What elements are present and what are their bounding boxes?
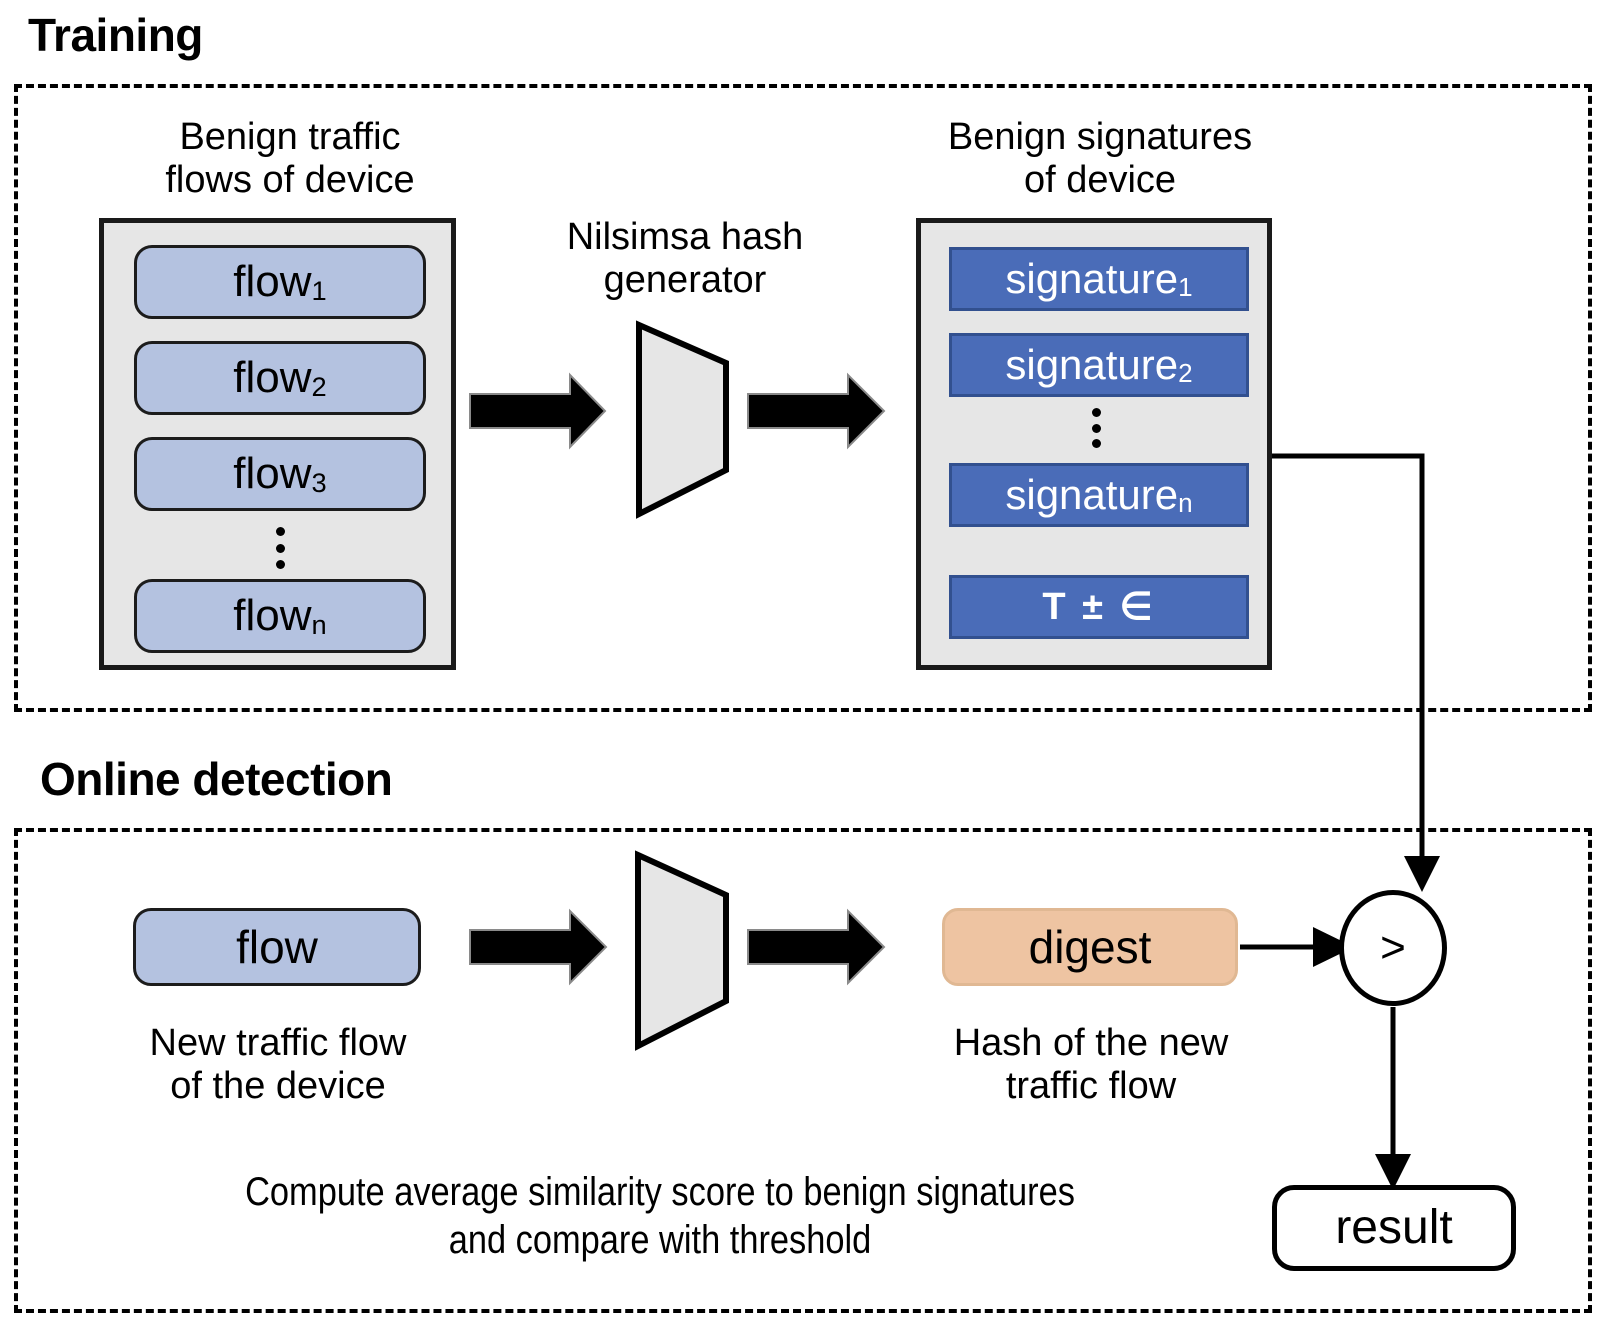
flow-label-subscript: 1 bbox=[312, 277, 327, 304]
flow-box-3[interactable]: flow3 bbox=[134, 437, 426, 511]
benign-signatures-container: signature1 signature2 signaturen T ± ∈ bbox=[916, 218, 1272, 670]
signature-label-base: signature bbox=[1005, 258, 1178, 300]
flow-label-subscript: 2 bbox=[312, 373, 327, 400]
signature-box-n[interactable]: signaturen bbox=[949, 463, 1249, 527]
flow-label-base: flow bbox=[233, 356, 311, 400]
signature-label-subscript: 2 bbox=[1178, 360, 1192, 386]
flow-label-subscript: n bbox=[312, 611, 327, 638]
signature-label-subscript: n bbox=[1178, 490, 1192, 516]
nilsimsa-hash-generator-label: Nilsimsa hash generator bbox=[525, 216, 845, 301]
flow-box-1[interactable]: flow1 bbox=[134, 245, 426, 319]
new-flow-box[interactable]: flow bbox=[133, 908, 421, 986]
benign-flows-container: flow1 flow2 flow3 flown bbox=[99, 218, 456, 670]
flow-box-n[interactable]: flown bbox=[134, 579, 426, 653]
new-flow-caption: New traffic flow of the device bbox=[118, 1022, 438, 1107]
flow-label-base: flow bbox=[233, 452, 311, 496]
flow-label-subscript: 3 bbox=[312, 469, 327, 496]
threshold-box[interactable]: T ± ∈ bbox=[949, 575, 1249, 639]
signature-box-1[interactable]: signature1 bbox=[949, 247, 1249, 311]
digest-box[interactable]: digest bbox=[942, 908, 1238, 986]
signature-box-2[interactable]: signature2 bbox=[949, 333, 1249, 397]
flow-label-base: flow bbox=[233, 594, 311, 638]
signature-label-base: signature bbox=[1005, 474, 1178, 516]
signature-label-base: signature bbox=[1005, 344, 1178, 386]
signature-label-subscript: 1 bbox=[1178, 274, 1192, 300]
vertical-ellipsis-icon bbox=[1087, 408, 1105, 448]
digest-caption: Hash of the new traffic flow bbox=[918, 1022, 1264, 1107]
diagram-canvas: Training Benign traffic flows of device … bbox=[0, 0, 1600, 1330]
flow-box-2[interactable]: flow2 bbox=[134, 341, 426, 415]
benign-signatures-caption: Benign signatures of device bbox=[900, 116, 1300, 201]
comparator-circle[interactable]: > bbox=[1339, 890, 1447, 1006]
result-box[interactable]: result bbox=[1272, 1185, 1516, 1271]
benign-traffic-caption: Benign traffic flows of device bbox=[100, 116, 480, 201]
detection-bottom-note: Compute average similarity score to beni… bbox=[178, 1168, 1141, 1264]
vertical-ellipsis-icon bbox=[271, 527, 289, 569]
section-title-training: Training bbox=[28, 12, 203, 58]
section-title-online-detection: Online detection bbox=[40, 756, 392, 802]
flow-label-base: flow bbox=[233, 260, 311, 304]
